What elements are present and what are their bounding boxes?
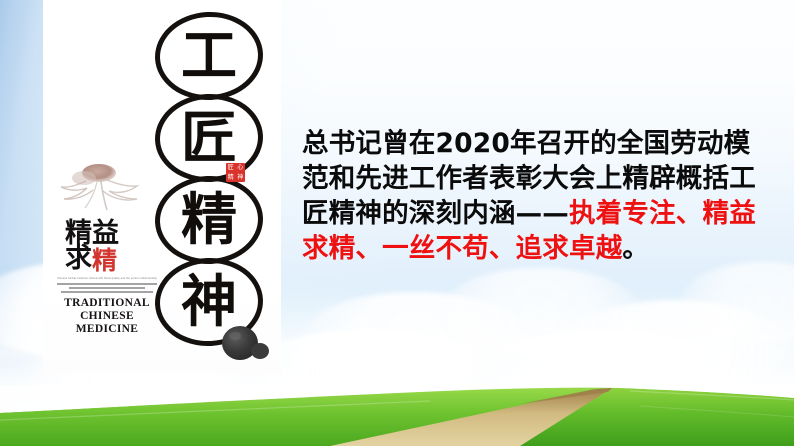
brush-circle-1: 工 bbox=[155, 12, 263, 100]
ink-gourd-blob bbox=[220, 323, 272, 365]
gourd-highlight bbox=[229, 332, 241, 340]
herb-root bbox=[103, 180, 137, 200]
poster-subtitle-char: 益 bbox=[92, 222, 119, 247]
quote-period: 。 bbox=[622, 233, 649, 264]
poster-title-char: 工 bbox=[155, 12, 263, 100]
caption-line-1: TRADITIONAL bbox=[51, 297, 163, 310]
hills-svg bbox=[0, 386, 794, 446]
poster-english-caption: TRADITIONAL CHINESE MEDICINE bbox=[51, 297, 163, 336]
fine-print-rule bbox=[69, 287, 146, 289]
caption-line-3: MEDICINE bbox=[51, 323, 163, 336]
herb-tail bbox=[101, 181, 107, 210]
seal-char: 神 bbox=[236, 173, 246, 183]
red-seal-stamp-icon: 匠 心 精 神 bbox=[226, 163, 245, 182]
poster-vertical-title: 工 匠 精 神 bbox=[155, 12, 273, 340]
poster-subtitle-char: 求 bbox=[65, 247, 92, 272]
poster-subtitle-row-2: 求 精 bbox=[65, 247, 177, 272]
gourd-neck bbox=[251, 343, 269, 359]
seal-char: 精 bbox=[226, 173, 236, 183]
herb-cap-small bbox=[72, 171, 96, 185]
fine-print-rule bbox=[61, 291, 153, 293]
craftsman-spirit-poster: 工 匠 精 神 匠 心 精 神 bbox=[43, 0, 281, 373]
poster-fine-print-text: Chinese herbal medicine refined with fin… bbox=[55, 277, 159, 281]
brush-circle-2: 匠 bbox=[155, 94, 263, 182]
ground-landscape bbox=[0, 386, 794, 446]
slide-canvas: 工 匠 精 神 匠 心 精 神 bbox=[0, 0, 794, 446]
poster-subtitle-accent-char: 精 bbox=[92, 249, 117, 272]
poster-title-char: 匠 bbox=[155, 94, 263, 182]
caption-line-2: CHINESE bbox=[51, 310, 163, 323]
poster-subtitle: 精 益 求 精 bbox=[65, 222, 177, 272]
seal-char: 匠 bbox=[226, 163, 236, 173]
main-quote-text: 总书记曾在2020年召开的全国劳动模范和先进工作者表彰大会上精辟概括工匠精神的深… bbox=[302, 126, 772, 266]
ginseng-herb-illustration bbox=[55, 154, 151, 216]
fine-print-rule bbox=[57, 283, 157, 285]
poster-fine-print: Chinese herbal medicine refined with fin… bbox=[55, 277, 159, 295]
seal-char: 心 bbox=[236, 163, 246, 173]
